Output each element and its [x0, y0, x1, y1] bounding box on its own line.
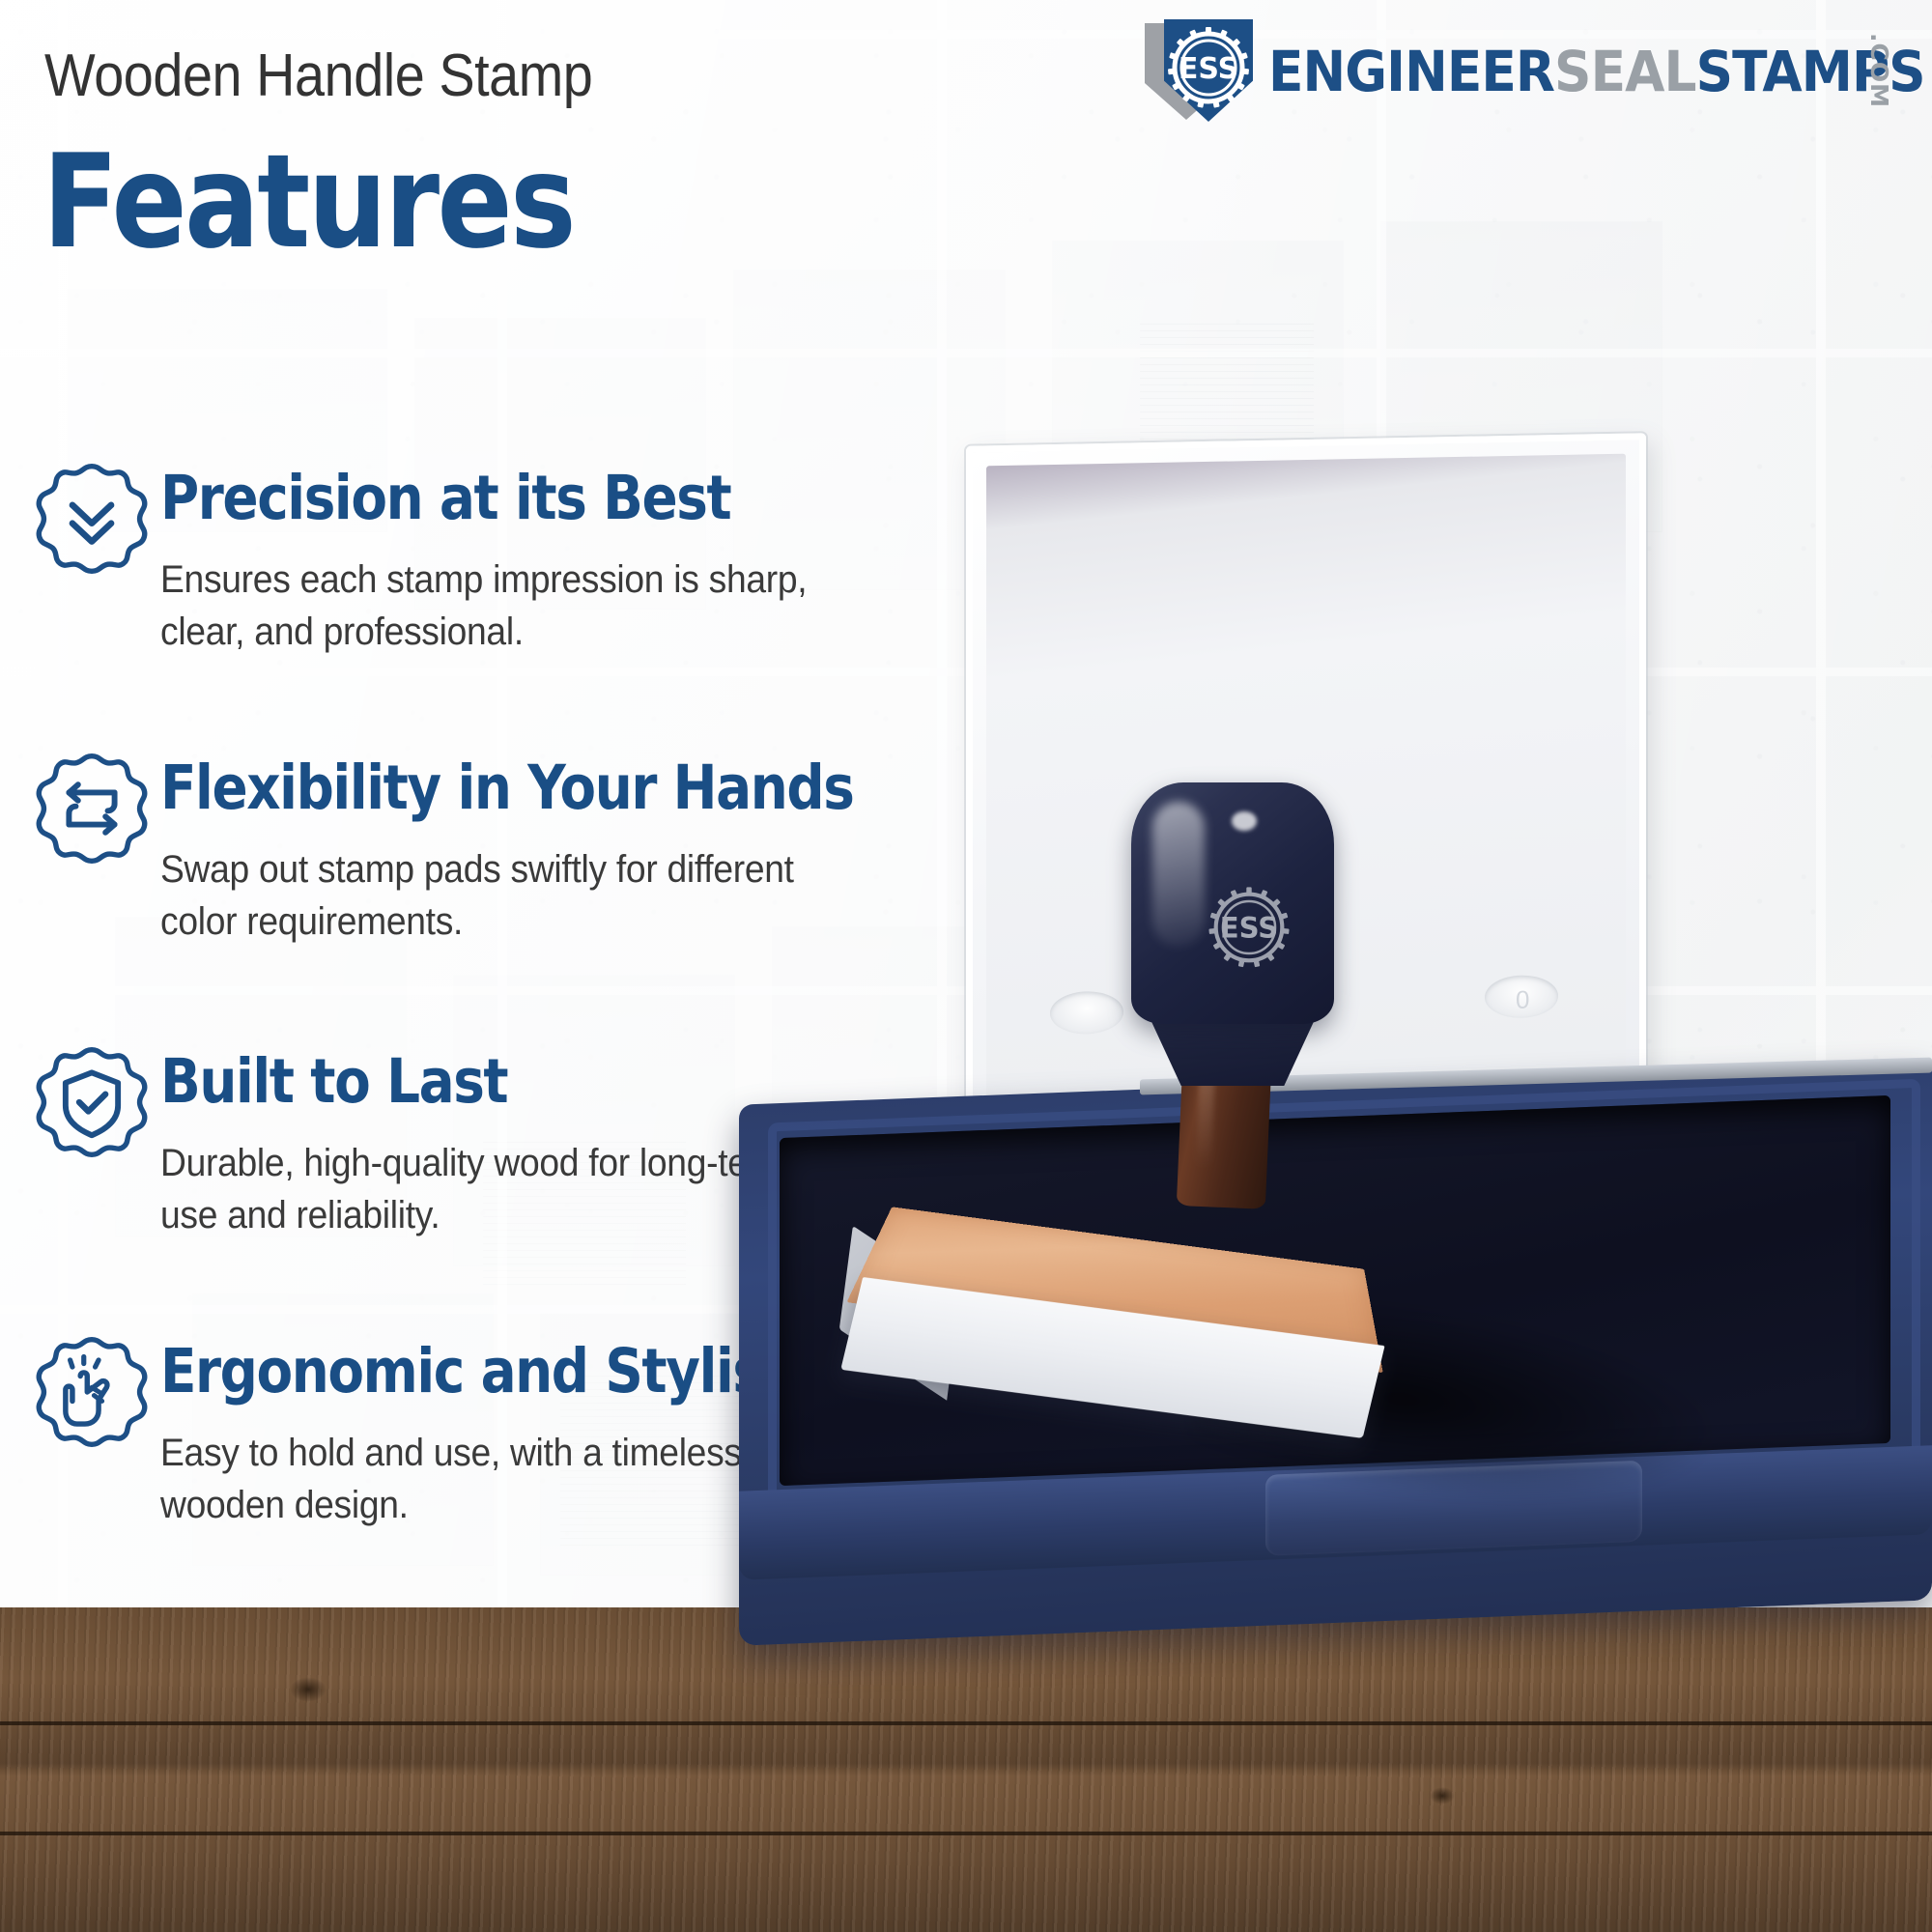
wood-knot — [1430, 1787, 1455, 1804]
feature-title: Flexibility in Your Hands — [160, 757, 853, 819]
wooden-table-surface — [0, 1607, 1932, 1932]
brand-wordmark: ENGINEERSEALSTAMPS — [1268, 41, 1925, 102]
product-photograph: 0 — [966, 415, 1932, 1642]
feature-description: Swap out stamp pads swiftly for differen… — [160, 844, 843, 948]
wordmark-tld: .COM — [1865, 33, 1893, 108]
page-kicker: Wooden Handle Stamp — [44, 46, 592, 106]
page-title: Features — [43, 137, 574, 267]
knob-specular — [1232, 811, 1257, 831]
ess-shield-mark: ESS — [1145, 17, 1259, 126]
feature-description: Ensures each stamp impression is sharp, … — [160, 554, 843, 658]
wood-knot — [290, 1677, 327, 1702]
knob-highlight — [1152, 802, 1205, 947]
hand-tap-badge-icon — [35, 1335, 149, 1449]
double-chevron-down-badge-icon — [35, 462, 149, 576]
knob-ess-gear-icon: ESS — [1199, 877, 1299, 978]
plank-seam — [0, 1721, 1932, 1725]
plank-seam — [0, 1832, 1932, 1835]
wooden-handle-stamp: ESS — [961, 773, 1637, 1526]
shield-check-badge-icon — [35, 1045, 149, 1159]
feature-title: Ergonomic and Stylish — [160, 1341, 799, 1403]
knob-monogram: ESS — [1220, 911, 1279, 944]
swap-arrows-badge-icon — [35, 752, 149, 866]
wordmark-engineer: ENGINEER — [1268, 39, 1554, 104]
ess-monogram: ESS — [1179, 52, 1238, 86]
brand-logo[interactable]: ESS ENGINEERSEALSTAMPS — [1145, 17, 1918, 126]
infographic-canvas: Wooden Handle Stamp Features — [0, 0, 1932, 1932]
feature-title: Built to Last — [160, 1051, 507, 1113]
feature-title: Precision at its Best — [160, 468, 730, 529]
wordmark-seal: SEAL — [1554, 39, 1696, 104]
gear-ring-icon: ESS — [1164, 19, 1253, 122]
